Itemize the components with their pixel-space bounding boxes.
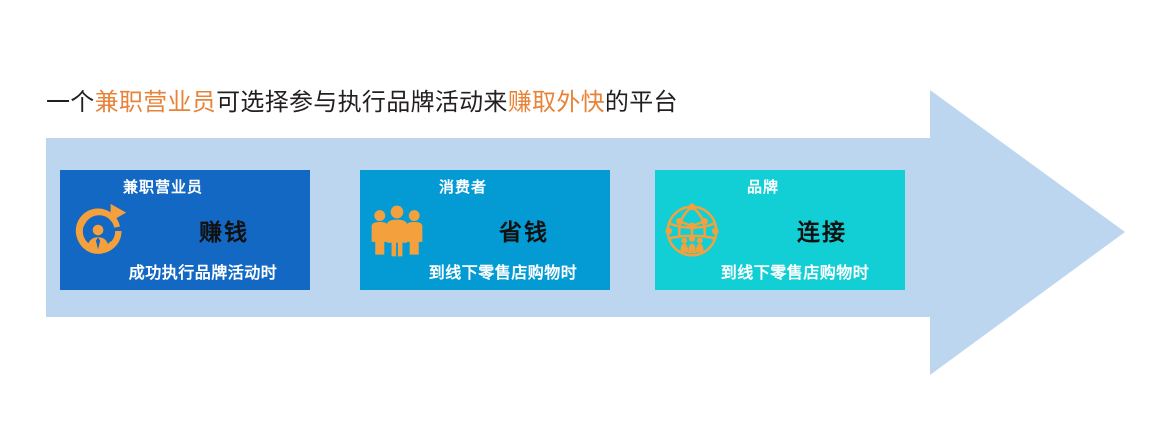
card-header-label: 品牌: [655, 176, 905, 197]
card-main-label: 赚钱: [138, 213, 310, 247]
card-consumer[interactable]: 消费者 省钱 到线下零售店购物时: [360, 170, 610, 290]
card-main-label: 连接: [739, 213, 905, 247]
slide-canvas: 一个兼职营业员可选择参与执行品牌活动来赚取外快的平台 兼职营业员 赚钱 成功执行…: [0, 0, 1150, 430]
card-header-label: 消费者: [360, 176, 610, 197]
title-segment-1-highlight: 兼职营业员: [95, 88, 217, 116]
person-in-cycle-arrow-icon: [68, 200, 130, 262]
title-segment-0: 一个: [46, 88, 95, 116]
page-title: 一个兼职营业员可选择参与执行品牌活动来赚取外快的平台: [46, 86, 678, 118]
card-footer-label: 到线下零售店购物时: [655, 259, 905, 283]
card-brand[interactable]: 品牌: [655, 170, 905, 290]
title-segment-4: 的平台: [605, 88, 678, 116]
title-segment-3-highlight: 赚取外快: [508, 88, 605, 116]
card-footer-label: 成功执行品牌活动时: [60, 259, 310, 283]
title-segment-2: 可选择参与执行品牌活动来: [216, 88, 508, 116]
card-header-label: 兼职营业员: [60, 176, 310, 197]
group-of-people-icon: [368, 202, 426, 260]
global-network-people-icon: [661, 200, 723, 262]
card-main-label: 省钱: [438, 213, 610, 247]
card-part-time-clerk[interactable]: 兼职营业员 赚钱 成功执行品牌活动时: [60, 170, 310, 290]
card-footer-label: 到线下零售店购物时: [360, 259, 610, 283]
